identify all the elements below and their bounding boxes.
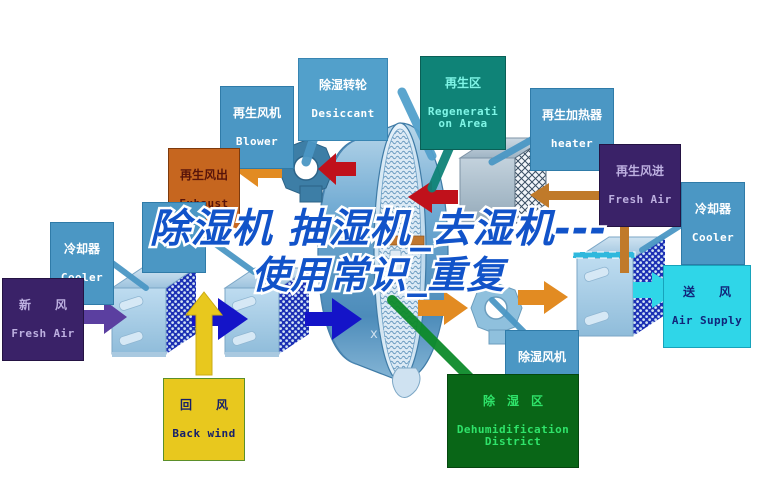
callout-cooler-right-cn: 冷却器 bbox=[684, 203, 742, 216]
callout-regen-fresh-air-en: Fresh Air bbox=[602, 194, 678, 206]
callout-dehum-district-en: Dehumidification District bbox=[450, 424, 576, 447]
callout-dehum-blower-cn: 除湿风机 bbox=[508, 351, 576, 364]
callout-fresh-air-en: Fresh Air bbox=[5, 328, 81, 340]
callout-cooler-mid-cn: 冷却器 bbox=[145, 223, 203, 236]
callout-air-supply-cn: 送 风 bbox=[666, 286, 748, 299]
callout-desiccant-en: Desiccant bbox=[301, 108, 385, 120]
callout-back-wind[interactable]: 回 风 Back wind bbox=[163, 378, 245, 461]
callout-air-supply-en: Air Supply bbox=[666, 315, 748, 327]
callout-desiccant-cn: 除湿转轮 bbox=[301, 79, 385, 92]
callout-cooler-right-en: Cooler bbox=[684, 232, 742, 244]
callout-fresh-air-cn: 新 风 bbox=[5, 299, 81, 312]
blower-to-cooler-arrow bbox=[518, 281, 568, 314]
callout-desiccant[interactable]: 除湿转轮 Desiccant bbox=[298, 58, 388, 141]
callout-exhaust-cn: 再生风出 bbox=[171, 169, 237, 182]
callout-regen-area-en: Regenerati on Area bbox=[423, 106, 503, 129]
callout-fresh-air[interactable]: 新 风 Fresh Air bbox=[2, 278, 84, 361]
callout-cooler-left-cn: 冷却器 bbox=[53, 243, 111, 256]
callout-regen-blower-cn: 再生风机 bbox=[223, 107, 291, 120]
callout-cooler-right[interactable]: 冷却器 Cooler bbox=[681, 182, 745, 265]
callout-regen-blower-en: Blower bbox=[223, 136, 291, 148]
callout-regen-area-cn: 再生区 bbox=[423, 77, 503, 90]
callout-regen-fresh-air[interactable]: 再生风进 Fresh Air bbox=[599, 144, 681, 227]
diagram-canvas: xt bbox=[0, 0, 757, 488]
callout-air-supply[interactable]: 送 风 Air Supply bbox=[663, 265, 751, 348]
callout-dehum-district[interactable]: 除 湿 区 Dehumidification District bbox=[447, 374, 579, 468]
callout-regen-heater-cn: 再生加热器 bbox=[533, 109, 611, 122]
cooler-coil-left bbox=[112, 268, 196, 357]
callout-back-wind-cn: 回 风 bbox=[166, 399, 242, 412]
callout-cooler-mid[interactable]: 冷却器 bbox=[142, 202, 206, 273]
callout-back-wind-en: Back wind bbox=[166, 428, 242, 440]
callout-regen-area[interactable]: 再生区 Regenerati on Area bbox=[420, 56, 506, 150]
callout-dehum-district-cn: 除 湿 区 bbox=[450, 395, 576, 408]
svg-text:xt: xt bbox=[370, 327, 388, 342]
callout-regen-fresh-air-cn: 再生风进 bbox=[602, 165, 678, 178]
